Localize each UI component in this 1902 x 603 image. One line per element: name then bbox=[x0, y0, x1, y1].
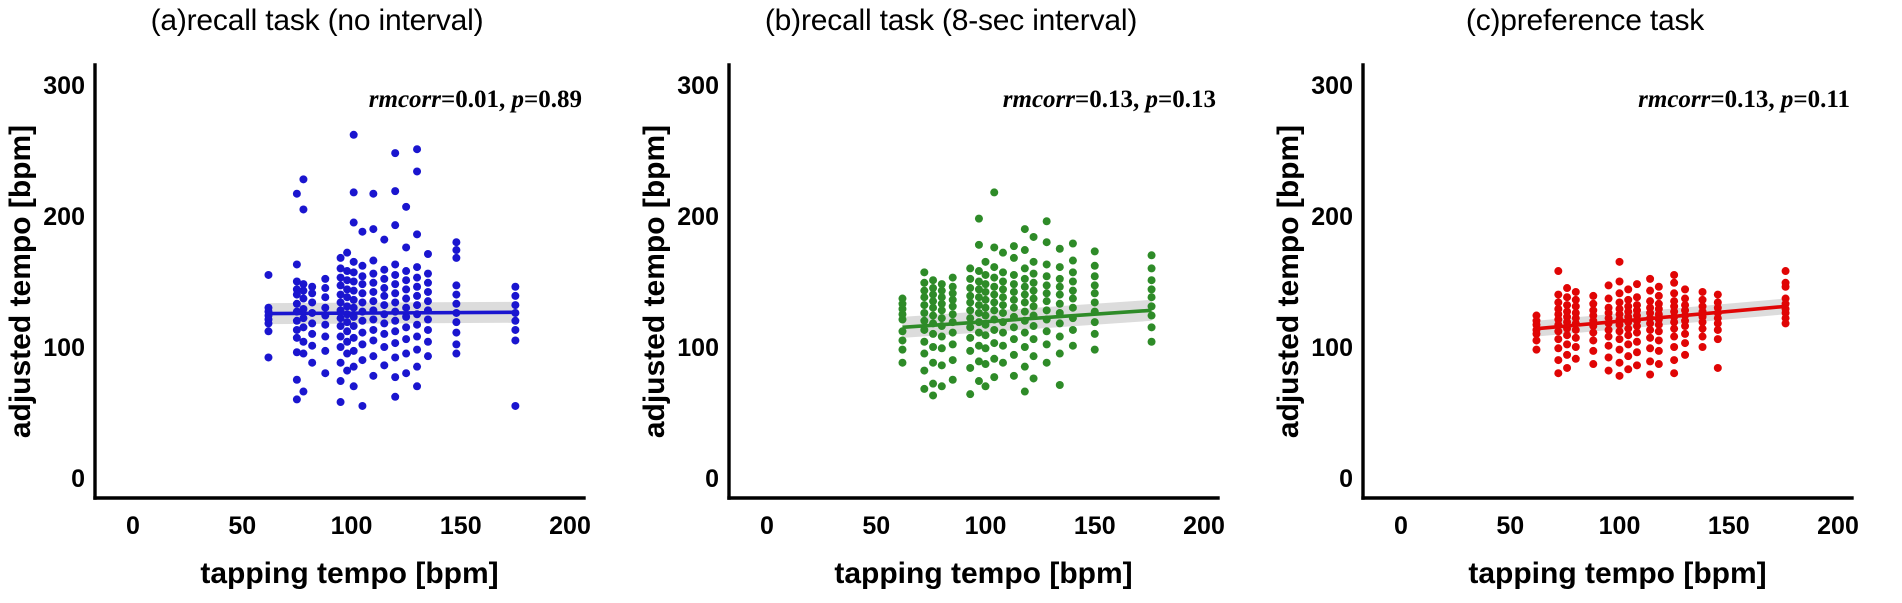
data-point bbox=[413, 274, 421, 282]
data-point bbox=[1554, 291, 1562, 299]
regression-line bbox=[268, 312, 517, 313]
x-tick-label: 100 bbox=[965, 512, 1007, 540]
data-point bbox=[1010, 280, 1018, 288]
data-point bbox=[1056, 283, 1064, 291]
data-point bbox=[413, 321, 421, 329]
data-point bbox=[990, 263, 998, 271]
data-point bbox=[1091, 272, 1099, 280]
data-point bbox=[369, 326, 377, 334]
data-point bbox=[358, 272, 366, 280]
data-point bbox=[1572, 343, 1580, 351]
stat-annotation: rmcorr=0.13, p=0.13 bbox=[1003, 86, 1216, 113]
data-point bbox=[337, 377, 345, 385]
y-tick-label: 300 bbox=[43, 72, 85, 100]
data-point bbox=[1021, 363, 1029, 371]
data-point bbox=[369, 336, 377, 344]
data-point bbox=[1010, 254, 1018, 262]
data-point bbox=[380, 301, 388, 309]
data-point bbox=[299, 338, 307, 346]
data-point bbox=[264, 271, 272, 279]
data-point bbox=[1021, 298, 1029, 306]
data-point bbox=[1091, 330, 1099, 338]
figure-root: (a)recall task (no interval) 01002003000… bbox=[0, 0, 1902, 603]
data-point bbox=[1043, 359, 1051, 367]
data-point bbox=[990, 326, 998, 334]
data-point bbox=[966, 364, 974, 372]
data-point bbox=[1646, 275, 1654, 283]
data-point bbox=[1148, 323, 1156, 331]
data-point bbox=[1148, 338, 1156, 346]
data-point bbox=[391, 187, 399, 195]
data-point bbox=[1069, 257, 1077, 265]
data-point bbox=[321, 275, 329, 283]
data-point bbox=[975, 377, 983, 385]
data-point bbox=[966, 390, 974, 398]
data-point bbox=[1091, 346, 1099, 354]
data-point bbox=[1021, 291, 1029, 299]
data-point bbox=[1616, 278, 1624, 286]
x-axis-title: tapping tempo [bpm] bbox=[834, 557, 1132, 590]
data-point bbox=[1699, 343, 1707, 351]
data-point bbox=[1056, 275, 1064, 283]
data-point bbox=[380, 343, 388, 351]
data-point bbox=[1563, 340, 1571, 348]
data-point bbox=[1148, 285, 1156, 293]
data-point bbox=[321, 293, 329, 301]
data-point bbox=[1091, 262, 1099, 270]
data-point bbox=[350, 322, 358, 330]
data-point bbox=[929, 304, 937, 312]
data-point bbox=[938, 333, 946, 341]
data-point bbox=[358, 262, 366, 270]
data-point bbox=[1554, 344, 1562, 352]
data-point bbox=[938, 306, 946, 314]
data-point bbox=[1714, 326, 1722, 334]
data-point bbox=[1670, 289, 1678, 297]
data-point bbox=[424, 352, 432, 360]
data-point bbox=[1043, 327, 1051, 335]
data-point bbox=[391, 149, 399, 157]
data-point bbox=[975, 241, 983, 249]
data-point bbox=[391, 353, 399, 361]
data-point bbox=[990, 339, 998, 347]
panel-b: (b)recall task (8-sec interval) 01002003… bbox=[634, 0, 1268, 603]
data-point bbox=[350, 334, 358, 342]
data-point bbox=[1605, 342, 1613, 350]
data-point bbox=[1605, 281, 1613, 289]
data-point bbox=[413, 263, 421, 271]
y-tick-label: 200 bbox=[43, 203, 85, 231]
data-point bbox=[369, 297, 377, 305]
data-point bbox=[1010, 335, 1018, 343]
data-point bbox=[982, 271, 990, 279]
data-point bbox=[1605, 353, 1613, 361]
data-point bbox=[413, 145, 421, 153]
data-point bbox=[1043, 306, 1051, 314]
data-point bbox=[413, 283, 421, 291]
data-point bbox=[452, 281, 460, 289]
data-point bbox=[308, 319, 316, 327]
data-point bbox=[1633, 348, 1641, 356]
data-point bbox=[920, 293, 928, 301]
data-point bbox=[350, 258, 358, 266]
data-point bbox=[1030, 295, 1038, 303]
data-point bbox=[966, 284, 974, 292]
data-point bbox=[424, 326, 432, 334]
data-point bbox=[350, 382, 358, 390]
data-point bbox=[380, 330, 388, 338]
data-point bbox=[391, 327, 399, 335]
panel-a-chart: 0100200300050100150200tapping tempo [bpm… bbox=[0, 48, 634, 603]
data-point bbox=[999, 293, 1007, 301]
data-point bbox=[1554, 369, 1562, 377]
data-point bbox=[369, 225, 377, 233]
data-point bbox=[337, 343, 345, 351]
data-point bbox=[1646, 371, 1654, 379]
data-point bbox=[1681, 285, 1689, 293]
data-point bbox=[990, 298, 998, 306]
data-point bbox=[938, 361, 946, 369]
data-point bbox=[1605, 295, 1613, 303]
data-point bbox=[1091, 281, 1099, 289]
data-point bbox=[949, 274, 957, 282]
data-point bbox=[343, 249, 351, 257]
data-point bbox=[1069, 268, 1077, 276]
data-point bbox=[1010, 242, 1018, 250]
data-point bbox=[1010, 323, 1018, 331]
data-point bbox=[391, 393, 399, 401]
data-point bbox=[391, 339, 399, 347]
x-tick-label: 0 bbox=[1394, 512, 1408, 540]
data-point bbox=[1010, 288, 1018, 296]
panel-c: (c)preference task 010020030005010015020… bbox=[1268, 0, 1902, 603]
panel-c-chart: 0100200300050100150200tapping tempo [bpm… bbox=[1268, 48, 1902, 603]
data-point bbox=[1021, 329, 1029, 337]
data-point bbox=[982, 296, 990, 304]
data-point bbox=[966, 306, 974, 314]
data-point bbox=[949, 356, 957, 364]
data-point bbox=[1589, 292, 1597, 300]
data-point bbox=[358, 402, 366, 410]
data-point bbox=[1010, 304, 1018, 312]
data-point bbox=[949, 329, 957, 337]
data-point bbox=[898, 336, 906, 344]
data-point bbox=[424, 270, 432, 278]
data-point bbox=[1091, 318, 1099, 326]
data-point bbox=[1043, 238, 1051, 246]
data-point bbox=[452, 238, 460, 246]
data-point bbox=[1069, 240, 1077, 248]
data-point bbox=[1010, 296, 1018, 304]
data-point bbox=[358, 329, 366, 337]
y-tick-label: 0 bbox=[705, 465, 719, 493]
data-point bbox=[299, 175, 307, 183]
data-point bbox=[413, 333, 421, 341]
data-point bbox=[1699, 325, 1707, 333]
data-point bbox=[1069, 295, 1077, 303]
data-point bbox=[1532, 346, 1540, 354]
data-point bbox=[380, 319, 388, 327]
data-point bbox=[1646, 357, 1654, 365]
x-tick-label: 100 bbox=[1599, 512, 1641, 540]
data-point bbox=[452, 318, 460, 326]
x-tick-label: 50 bbox=[1496, 512, 1524, 540]
data-point bbox=[308, 298, 316, 306]
data-point bbox=[293, 300, 301, 308]
data-point bbox=[1091, 289, 1099, 297]
data-point bbox=[391, 298, 399, 306]
panel-a: (a)recall task (no interval) 01002003000… bbox=[0, 0, 634, 603]
data-point bbox=[1056, 319, 1064, 327]
data-point bbox=[424, 338, 432, 346]
data-point bbox=[452, 246, 460, 254]
data-point bbox=[413, 292, 421, 300]
data-point bbox=[929, 391, 937, 399]
data-point bbox=[920, 279, 928, 287]
data-point bbox=[1633, 361, 1641, 369]
data-point bbox=[369, 257, 377, 265]
data-point bbox=[1030, 287, 1038, 295]
data-point bbox=[264, 353, 272, 361]
x-tick-label: 200 bbox=[549, 512, 591, 540]
data-point bbox=[1624, 285, 1632, 293]
x-tick-label: 0 bbox=[126, 512, 140, 540]
data-point bbox=[1021, 283, 1029, 291]
data-point bbox=[380, 361, 388, 369]
y-axis-title: adjusted tempo [bpm] bbox=[4, 125, 37, 438]
data-point bbox=[1148, 264, 1156, 272]
data-point bbox=[264, 327, 272, 335]
data-point bbox=[358, 289, 366, 297]
data-point bbox=[1148, 312, 1156, 320]
data-point bbox=[337, 254, 345, 262]
data-point bbox=[1030, 279, 1038, 287]
data-point bbox=[898, 315, 906, 323]
data-point bbox=[975, 215, 983, 223]
data-point bbox=[358, 228, 366, 236]
data-point bbox=[350, 131, 358, 139]
data-point bbox=[1714, 335, 1722, 343]
y-tick-label: 0 bbox=[1339, 465, 1353, 493]
data-point bbox=[369, 352, 377, 360]
x-tick-label: 150 bbox=[1708, 512, 1750, 540]
data-point bbox=[1605, 333, 1613, 341]
data-point bbox=[402, 295, 410, 303]
panel-b-chart: 0100200300050100150200tapping tempo [bpm… bbox=[634, 48, 1268, 603]
data-point bbox=[1554, 356, 1562, 364]
data-point bbox=[391, 280, 399, 288]
data-point bbox=[424, 297, 432, 305]
data-point bbox=[350, 296, 358, 304]
data-point bbox=[380, 292, 388, 300]
data-point bbox=[413, 382, 421, 390]
data-point bbox=[1655, 292, 1663, 300]
data-point bbox=[929, 330, 937, 338]
data-point bbox=[402, 203, 410, 211]
data-point bbox=[898, 346, 906, 354]
data-point bbox=[982, 312, 990, 320]
data-point bbox=[1589, 360, 1597, 368]
data-point bbox=[1563, 364, 1571, 372]
data-point bbox=[999, 285, 1007, 293]
data-point bbox=[1670, 343, 1678, 351]
data-point bbox=[1670, 271, 1678, 279]
data-point bbox=[452, 340, 460, 348]
data-point bbox=[938, 382, 946, 390]
data-point bbox=[999, 329, 1007, 337]
data-point bbox=[1589, 329, 1597, 337]
data-point bbox=[929, 312, 937, 320]
panel-c-title: (c)preference task bbox=[1268, 4, 1902, 38]
data-point bbox=[402, 350, 410, 358]
data-point bbox=[966, 347, 974, 355]
data-point bbox=[1010, 271, 1018, 279]
x-tick-label: 150 bbox=[1074, 512, 1116, 540]
data-point bbox=[982, 304, 990, 312]
data-point bbox=[1624, 340, 1632, 348]
data-point bbox=[999, 249, 1007, 257]
data-point bbox=[1655, 336, 1663, 344]
data-point bbox=[1589, 336, 1597, 344]
data-point bbox=[1030, 270, 1038, 278]
data-point bbox=[1633, 329, 1641, 337]
data-point bbox=[999, 268, 1007, 276]
data-point bbox=[350, 219, 358, 227]
data-point bbox=[1714, 291, 1722, 299]
data-point bbox=[511, 336, 519, 344]
stat-annotation: rmcorr=0.01, p=0.89 bbox=[369, 86, 582, 113]
data-point bbox=[350, 363, 358, 371]
data-point bbox=[1681, 339, 1689, 347]
data-point bbox=[1021, 275, 1029, 283]
data-point bbox=[990, 188, 998, 196]
data-point bbox=[1670, 333, 1678, 341]
data-point bbox=[511, 292, 519, 300]
data-point bbox=[990, 355, 998, 363]
data-point bbox=[1056, 291, 1064, 299]
data-point bbox=[321, 333, 329, 341]
data-point bbox=[413, 301, 421, 309]
data-point bbox=[938, 344, 946, 352]
data-point bbox=[1655, 360, 1663, 368]
y-axis-title: adjusted tempo [bpm] bbox=[1272, 125, 1305, 438]
y-tick-label: 300 bbox=[1311, 72, 1353, 100]
data-point bbox=[1616, 327, 1624, 335]
data-point bbox=[1616, 335, 1624, 343]
data-point bbox=[1655, 327, 1663, 335]
data-point bbox=[402, 335, 410, 343]
data-point bbox=[920, 268, 928, 276]
data-point bbox=[321, 369, 329, 377]
data-point bbox=[293, 190, 301, 198]
data-point bbox=[920, 309, 928, 317]
data-point bbox=[1043, 289, 1051, 297]
y-tick-label: 200 bbox=[677, 203, 719, 231]
data-point bbox=[1030, 258, 1038, 266]
y-tick-label: 0 bbox=[71, 465, 85, 493]
x-tick-label: 0 bbox=[760, 512, 774, 540]
data-point bbox=[350, 347, 358, 355]
data-point bbox=[1148, 276, 1156, 284]
data-point bbox=[369, 372, 377, 380]
data-point bbox=[966, 298, 974, 306]
data-point bbox=[1091, 247, 1099, 255]
x-axis-title: tapping tempo [bpm] bbox=[1468, 557, 1766, 590]
data-point bbox=[999, 301, 1007, 309]
data-point bbox=[1616, 289, 1624, 297]
panel-b-plot-area: 0100200300050100150200tapping tempo [bpm… bbox=[638, 65, 1225, 590]
data-point bbox=[337, 359, 345, 367]
data-point bbox=[1646, 344, 1654, 352]
data-point bbox=[299, 350, 307, 358]
data-point bbox=[358, 356, 366, 364]
data-point bbox=[1043, 281, 1051, 289]
data-point bbox=[402, 369, 410, 377]
data-point bbox=[966, 334, 974, 342]
data-point bbox=[1030, 322, 1038, 330]
data-point bbox=[1655, 283, 1663, 291]
data-point bbox=[1043, 272, 1051, 280]
data-point bbox=[452, 350, 460, 358]
data-point bbox=[369, 190, 377, 198]
data-point bbox=[369, 288, 377, 296]
data-point bbox=[1782, 267, 1790, 275]
data-point bbox=[369, 315, 377, 323]
x-tick-label: 200 bbox=[1817, 512, 1859, 540]
data-point bbox=[1148, 251, 1156, 259]
data-point bbox=[511, 283, 519, 291]
data-point bbox=[920, 385, 928, 393]
data-point bbox=[982, 360, 990, 368]
panel-b-title: (b)recall task (8-sec interval) bbox=[634, 4, 1268, 38]
data-point bbox=[299, 323, 307, 331]
data-point bbox=[1646, 334, 1654, 342]
data-point bbox=[321, 347, 329, 355]
data-point bbox=[1056, 381, 1064, 389]
data-point bbox=[1699, 288, 1707, 296]
data-point bbox=[308, 342, 316, 350]
data-point bbox=[1030, 233, 1038, 241]
data-point bbox=[299, 295, 307, 303]
data-point bbox=[413, 346, 421, 354]
data-point bbox=[1021, 388, 1029, 396]
data-point bbox=[1021, 343, 1029, 351]
data-point bbox=[391, 260, 399, 268]
data-point bbox=[264, 319, 272, 327]
data-point bbox=[1043, 217, 1051, 225]
data-point bbox=[293, 376, 301, 384]
data-point bbox=[1646, 326, 1654, 334]
data-point bbox=[1554, 267, 1562, 275]
data-point bbox=[380, 284, 388, 292]
stat-annotation: rmcorr=0.13, p=0.11 bbox=[1638, 86, 1850, 113]
data-point bbox=[949, 310, 957, 318]
data-point bbox=[1616, 346, 1624, 354]
panel-a-plot-area: 0100200300050100150200tapping tempo [bpm… bbox=[4, 65, 591, 590]
data-point bbox=[350, 188, 358, 196]
data-point bbox=[982, 331, 990, 339]
data-point bbox=[1069, 326, 1077, 334]
data-point bbox=[350, 304, 358, 312]
data-point bbox=[1782, 283, 1790, 291]
data-point bbox=[402, 243, 410, 251]
data-point bbox=[511, 402, 519, 410]
data-point bbox=[358, 280, 366, 288]
data-point bbox=[1563, 284, 1571, 292]
data-point bbox=[308, 289, 316, 297]
data-point bbox=[929, 276, 937, 284]
data-point bbox=[999, 278, 1007, 286]
